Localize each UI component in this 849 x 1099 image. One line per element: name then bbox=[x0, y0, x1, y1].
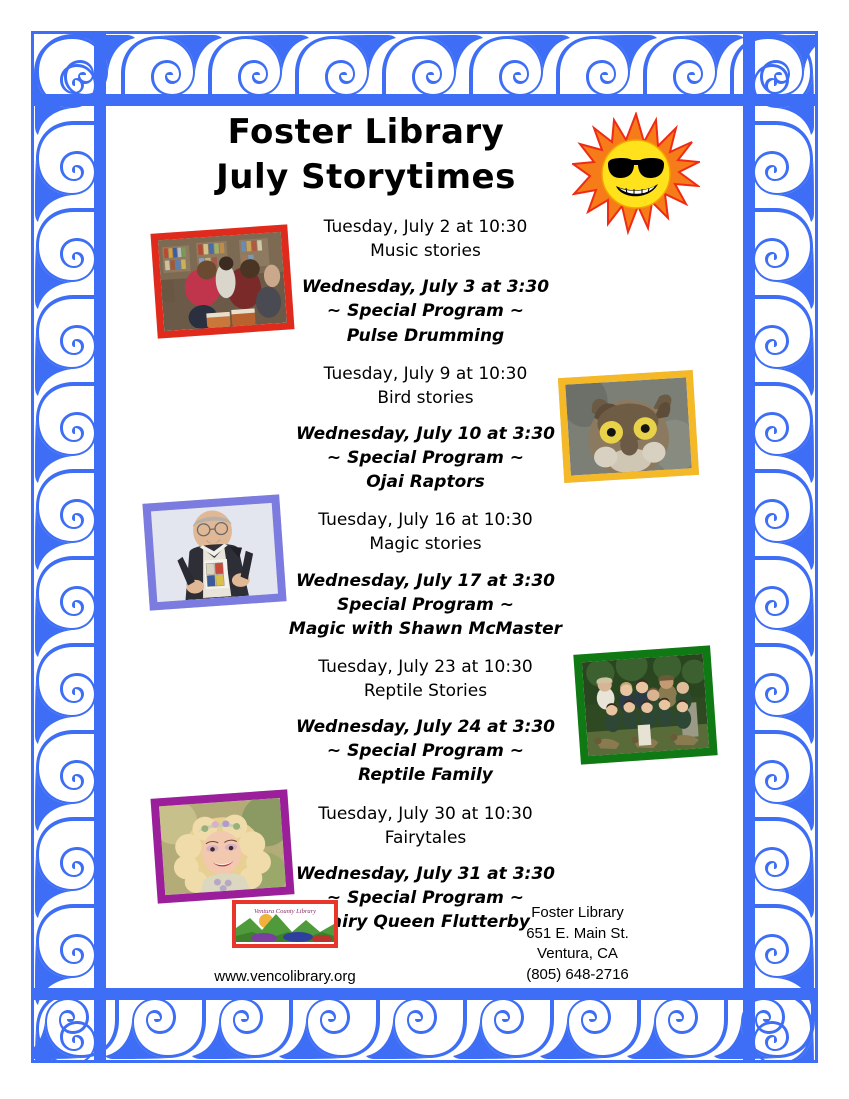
title-line-1: Foster Library bbox=[106, 110, 626, 155]
border-wave-right bbox=[743, 34, 815, 1060]
schedule-entry: Tuesday, July 30 at 10:30 Fairytales bbox=[253, 802, 598, 850]
entry-topic: Magic with Shawn McMaster bbox=[253, 617, 598, 641]
entry-topic: Music stories bbox=[253, 239, 598, 263]
border-wave-left bbox=[34, 34, 106, 1060]
schedule-entry: Wednesday, July 17 at 3:30 Special Progr… bbox=[253, 569, 598, 641]
ventura-county-library-logo: Ventura County Library bbox=[232, 900, 338, 948]
entry-special-label: Special Program ~ bbox=[253, 593, 598, 617]
entry-date: Wednesday, July 10 at 3:30 bbox=[253, 422, 598, 446]
entry-topic: Reptile Stories bbox=[253, 679, 598, 703]
entry-special-label: ~ Special Program ~ bbox=[253, 739, 598, 763]
entry-date: Wednesday, July 3 at 3:30 bbox=[253, 275, 598, 299]
entry-topic: Ojai Raptors bbox=[253, 470, 598, 494]
schedule-entry: Wednesday, July 24 at 3:30 ~ Special Pro… bbox=[253, 715, 598, 787]
schedule-entry: Tuesday, July 16 at 10:30 Magic stories bbox=[253, 508, 598, 556]
schedule-entry: Tuesday, July 2 at 10:30 Music stories bbox=[253, 215, 598, 263]
footer-logo-block: Ventura County Library www.vencolibrary.… bbox=[180, 900, 390, 985]
address-line-2: 651 E. Main St. bbox=[470, 924, 685, 945]
entry-date: Wednesday, July 17 at 3:30 bbox=[253, 569, 598, 593]
entry-date: Tuesday, July 9 at 10:30 bbox=[253, 362, 598, 386]
entry-topic: Bird stories bbox=[253, 386, 598, 410]
schedule-entry: Tuesday, July 23 at 10:30 Reptile Storie… bbox=[253, 655, 598, 703]
entry-date: Wednesday, July 24 at 3:30 bbox=[253, 715, 598, 739]
entry-topic: Reptile Family bbox=[253, 763, 598, 787]
entry-date: Tuesday, July 16 at 10:30 bbox=[253, 508, 598, 532]
entry-special-label: ~ Special Program ~ bbox=[253, 446, 598, 470]
library-website-url[interactable]: www.vencolibrary.org bbox=[180, 968, 390, 985]
title-line-2: July Storytimes bbox=[106, 155, 626, 200]
logo-caption-text: Ventura County Library bbox=[254, 908, 316, 915]
schedule-entry: Tuesday, July 9 at 10:30 Bird stories bbox=[253, 362, 598, 410]
entry-date: Tuesday, July 2 at 10:30 bbox=[253, 215, 598, 239]
address-line-1: Foster Library bbox=[470, 903, 685, 924]
library-address: Foster Library 651 E. Main St. Ventura, … bbox=[470, 903, 685, 986]
library-phone: (805) 648-2716 bbox=[470, 965, 685, 986]
entry-date: Wednesday, July 31 at 3:30 bbox=[253, 862, 598, 886]
entry-topic: Fairytales bbox=[253, 826, 598, 850]
entry-special-label: ~ Special Program ~ bbox=[253, 299, 598, 323]
border-wave-top bbox=[34, 34, 815, 106]
entry-topic: Pulse Drumming bbox=[253, 324, 598, 348]
poster-canvas: Foster Library July Storytimes bbox=[0, 0, 849, 1099]
schedule-entry: Wednesday, July 10 at 3:30 ~ Special Pro… bbox=[253, 422, 598, 494]
entry-date: Tuesday, July 30 at 10:30 bbox=[253, 802, 598, 826]
entry-topic: Magic stories bbox=[253, 532, 598, 556]
page-title: Foster Library July Storytimes bbox=[106, 110, 626, 200]
border-wave-bottom bbox=[34, 988, 815, 1060]
storytime-schedule: Tuesday, July 2 at 10:30 Music stories W… bbox=[253, 215, 598, 948]
entry-date: Tuesday, July 23 at 10:30 bbox=[253, 655, 598, 679]
schedule-entry: Wednesday, July 3 at 3:30 ~ Special Prog… bbox=[253, 275, 598, 347]
address-line-3: Ventura, CA bbox=[470, 944, 685, 965]
